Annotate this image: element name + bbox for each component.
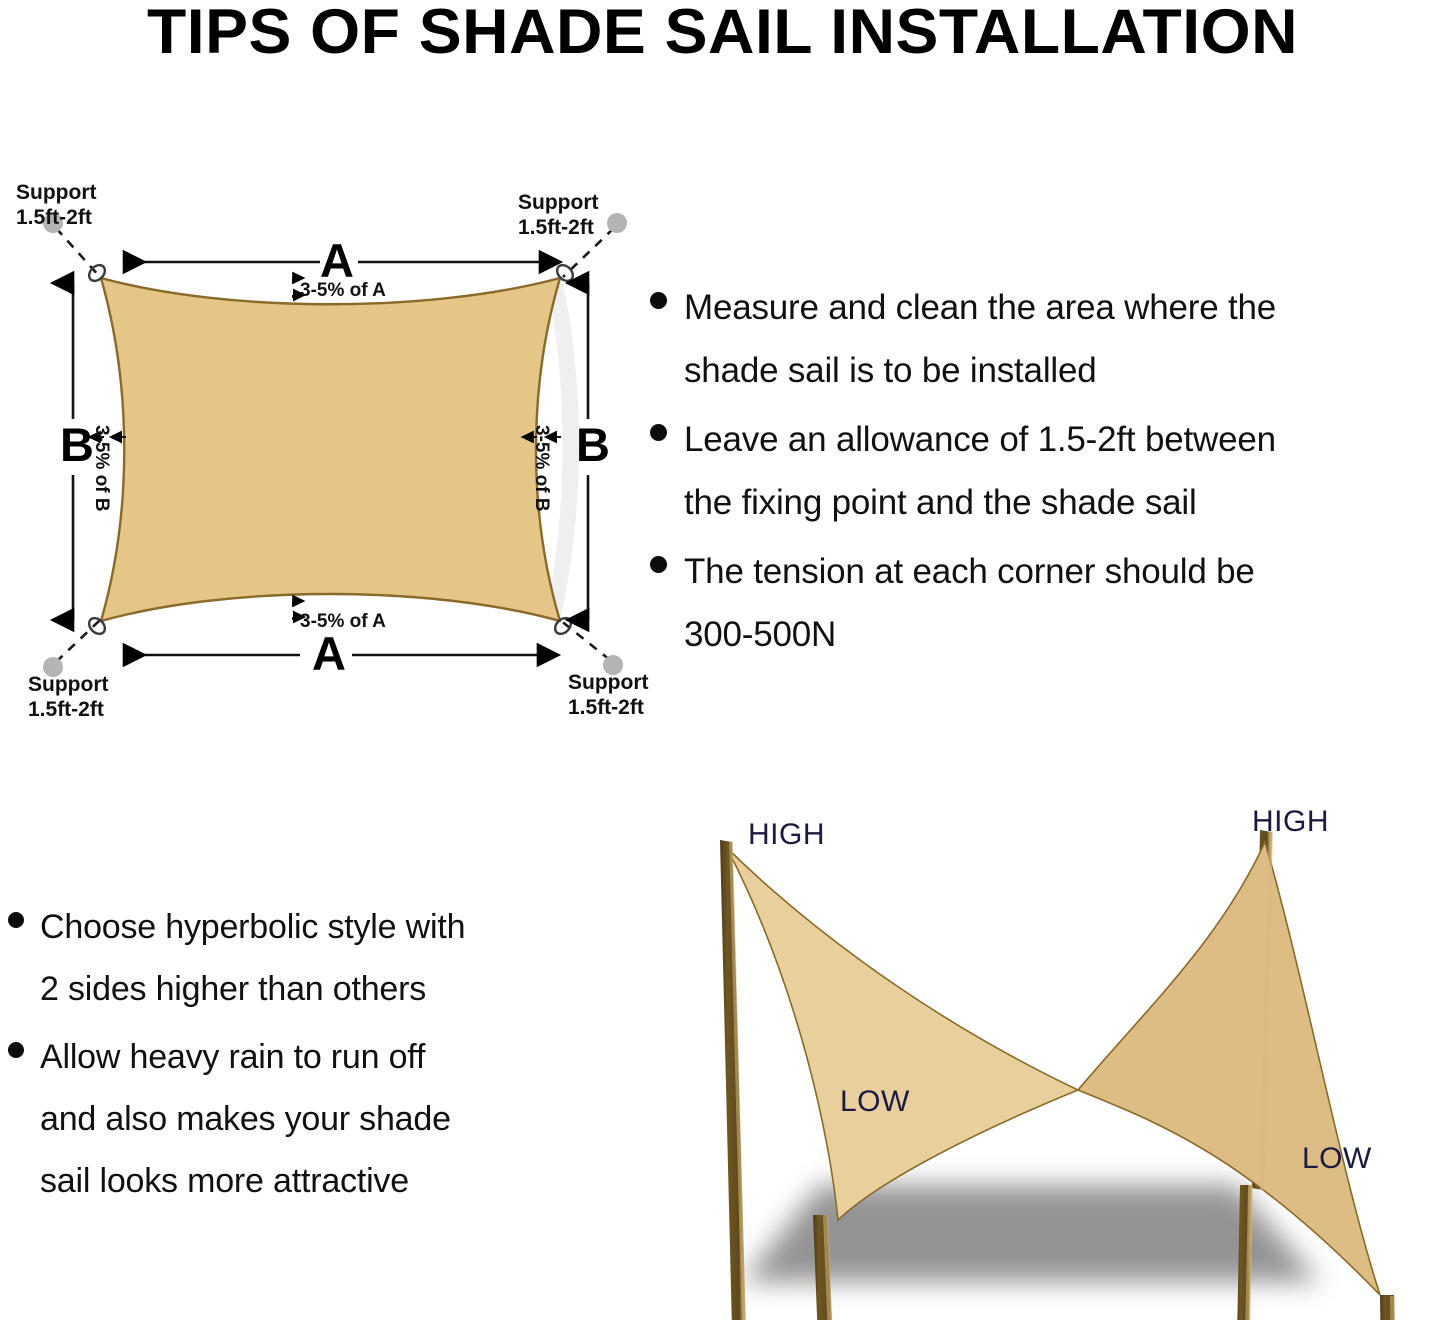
support-label-bottom-right: Support 1.5ft-2ft [568,670,648,720]
bullet-icon [650,556,667,573]
hyperbolic-sail-illustration [680,790,1445,1320]
support-label-bottom-left: Support 1.5ft-2ft [28,672,108,722]
hyperbolic-style-tips-list: Choose hyperbolic style with 2 sides hig… [8,896,628,1218]
list-item: Leave an allowance of 1.5-2ft between th… [650,408,1445,534]
support-label-top-right: Support 1.5ft-2ft [518,190,598,240]
list-item-text: Choose hyperbolic style with 2 sides hig… [40,896,465,1020]
dimension-letter-right-b: B [576,421,610,468]
list-item-text: Leave an allowance of 1.5-2ft between th… [684,408,1276,534]
sail-panel-front [727,848,1078,1220]
label-low-left: LOW [840,1085,910,1119]
curve-note-bottom: 3-5% of A [300,611,386,633]
label-low-right: LOW [1302,1142,1372,1176]
list-item: Allow heavy rain to run off and also mak… [8,1026,628,1212]
bullet-icon [8,912,24,928]
shade-sail-fabric [101,278,560,621]
list-item-text: Measure and clean the area where the sha… [684,276,1276,402]
list-item: The tension at each corner should be 300… [650,540,1445,666]
bullet-icon [650,424,667,441]
list-item-text: Allow heavy rain to run off and also mak… [40,1026,451,1212]
dimension-letter-bottom-a: A [312,630,346,677]
bullet-icon [650,292,667,309]
curve-note-right: 3-5% of B [530,425,552,512]
bullet-icon [8,1042,24,1058]
list-item-text: The tension at each corner should be 300… [684,540,1255,666]
list-item: Choose hyperbolic style with 2 sides hig… [8,896,628,1020]
installation-tips-list: Measure and clean the area where the sha… [650,276,1445,672]
dimension-letter-left-b: B [60,421,94,468]
dimension-letter-top-a: A [320,237,354,284]
page-title: TIPS OF SHADE SAIL INSTALLATION [0,0,1445,68]
curve-note-top: 3-5% of A [300,280,386,302]
support-label-top-left: Support 1.5ft-2ft [16,180,96,230]
label-high-left: HIGH [748,818,825,852]
list-item: Measure and clean the area where the sha… [650,276,1445,402]
curve-note-left: 3-5% of B [90,425,112,512]
label-high-right: HIGH [1252,805,1329,839]
